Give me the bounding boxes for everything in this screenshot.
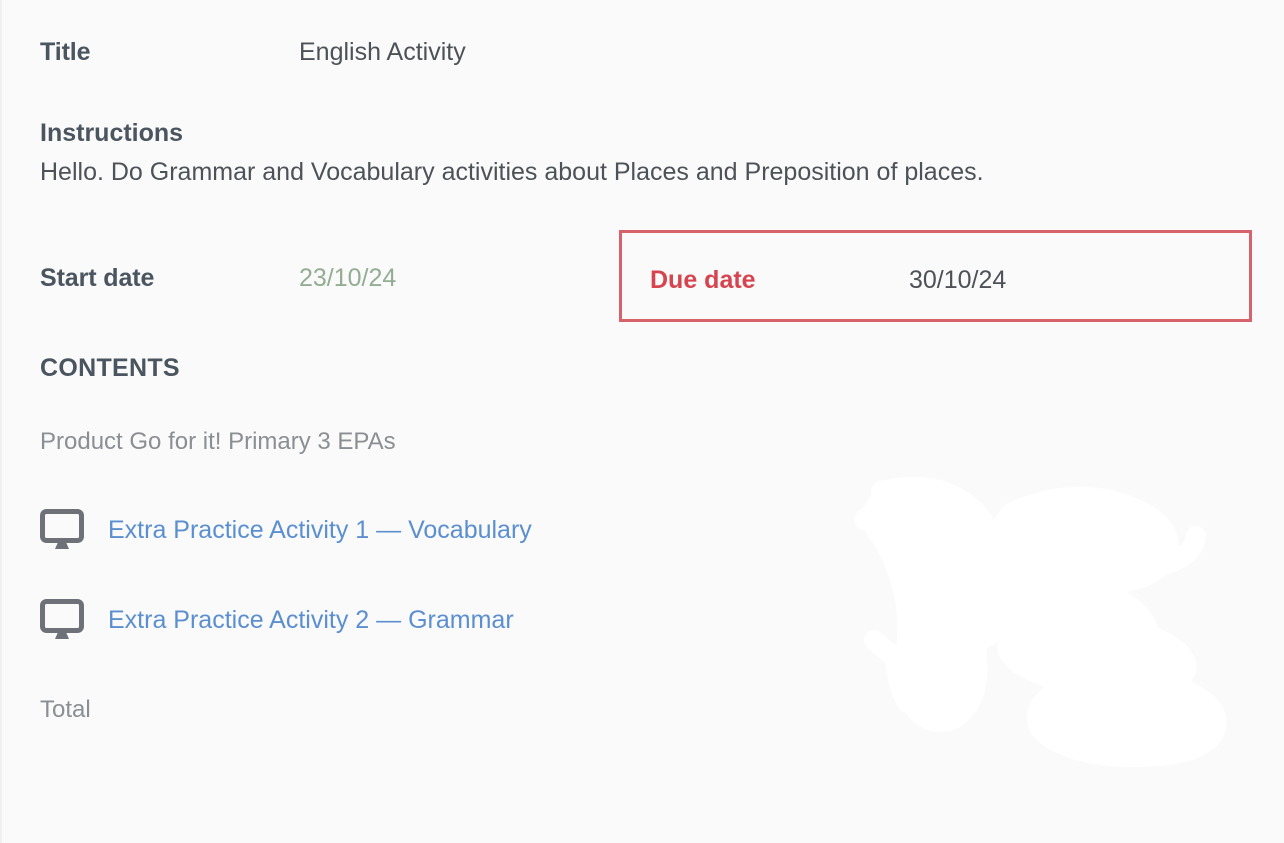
due-date-highlight-box: Due date 30/10/24 <box>619 230 1252 322</box>
contents-subtitle: Product Go for it! Primary 3 EPAs <box>40 428 396 456</box>
content-list-item[interactable]: Extra Practice Activity 1 — Vocabulary <box>40 508 532 552</box>
due-date-group: Due date 30/10/24 <box>650 266 1006 295</box>
due-date-label: Due date <box>650 266 909 295</box>
monitor-icon <box>40 599 84 641</box>
dates-row: Start date 23/10/24 Due date 30/10/24 <box>2 228 1284 330</box>
start-date-value: 23/10/24 <box>299 264 396 293</box>
start-date-label: Start date <box>40 264 299 293</box>
title-row: Title English Activity <box>40 38 1240 67</box>
instructions-block: Instructions Hello. Do Grammar and Vocab… <box>40 118 1270 188</box>
total-label: Total <box>40 696 91 724</box>
start-date-group: Start date 23/10/24 <box>40 264 396 293</box>
instructions-body: Hello. Do Grammar and Vocabulary activit… <box>40 156 1270 188</box>
content-link[interactable]: Extra Practice Activity 1 — Vocabulary <box>108 516 532 545</box>
monitor-icon <box>40 509 84 551</box>
title-label: Title <box>40 38 299 67</box>
content-list-item[interactable]: Extra Practice Activity 2 — Grammar <box>40 598 514 642</box>
instructions-heading: Instructions <box>40 118 1270 149</box>
activity-detail-panel: Title English Activity Instructions Hell… <box>0 0 1284 843</box>
due-date-value: 30/10/24 <box>909 266 1006 295</box>
content-link[interactable]: Extra Practice Activity 2 — Grammar <box>108 606 514 635</box>
contents-heading: CONTENTS <box>40 354 180 383</box>
title-value: English Activity <box>299 38 466 67</box>
